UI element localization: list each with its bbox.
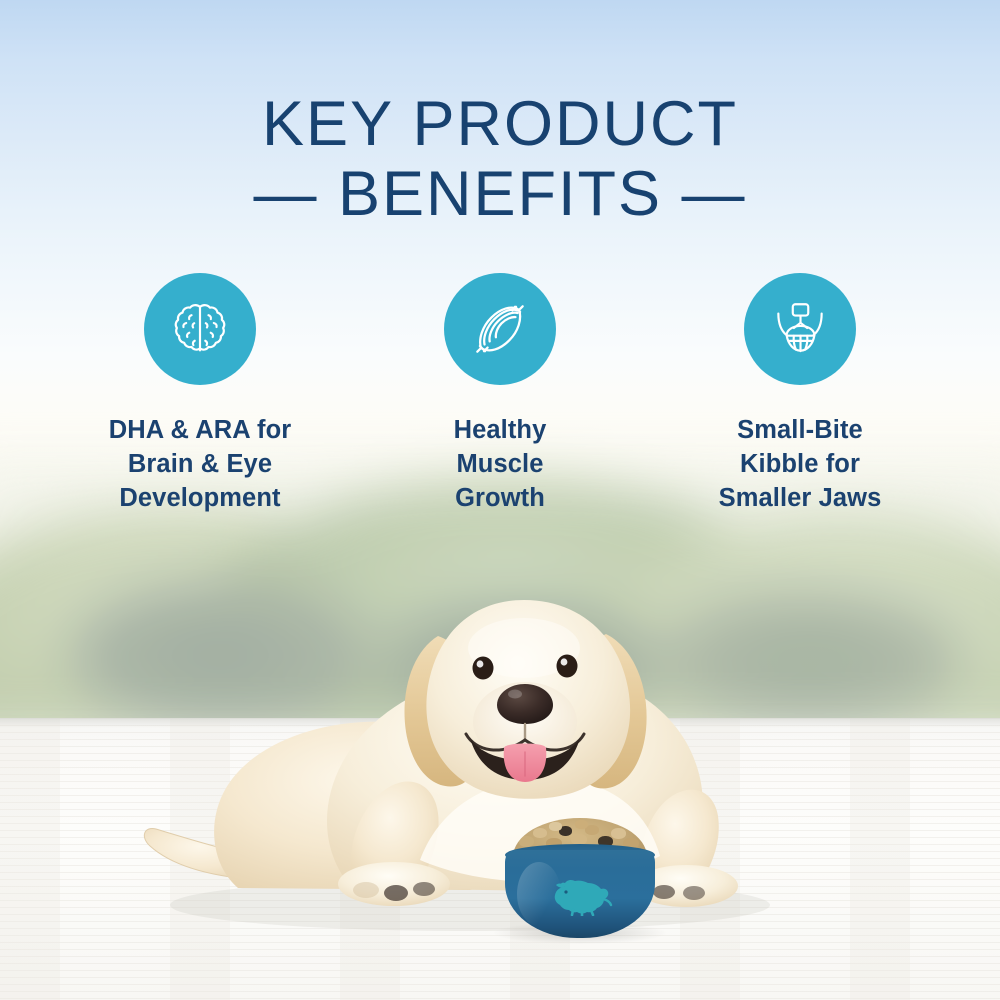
dog-eye-left — [473, 657, 494, 680]
dog-food-bowl — [505, 818, 655, 940]
dog-eye-right — [557, 655, 578, 678]
bison-logo-icon — [551, 874, 613, 916]
golden-retriever-puppy — [0, 0, 1000, 1000]
marketing-banner: KEY PRODUCT — BENEFITS — DHA & ARA for — [0, 0, 1000, 1000]
